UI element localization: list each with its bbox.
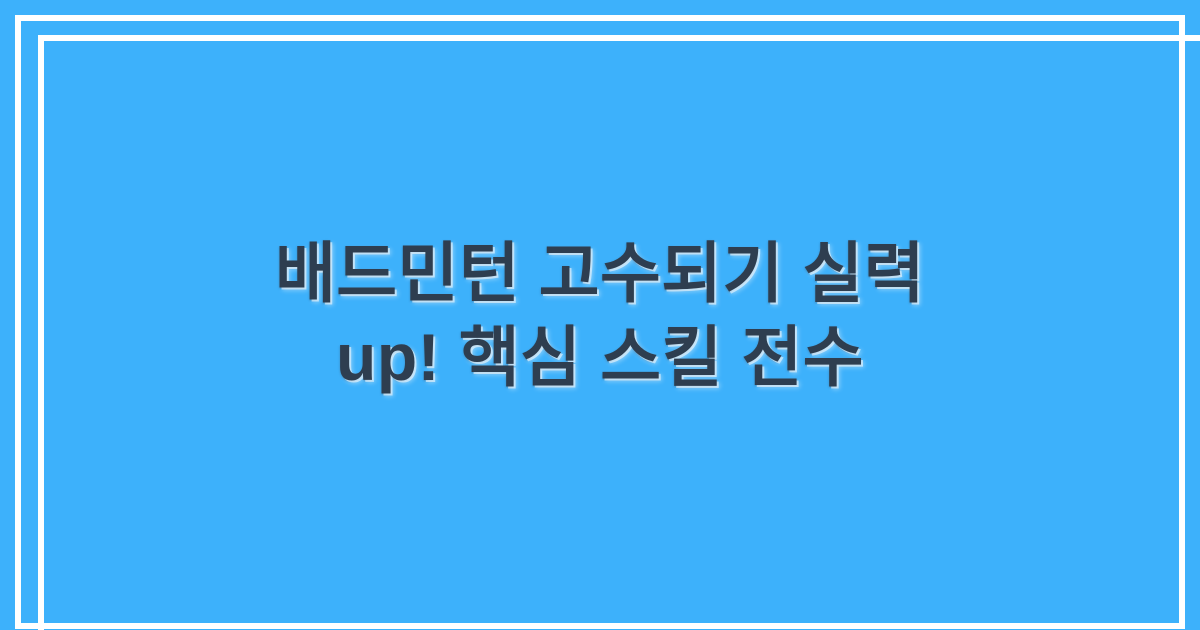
thumbnail-card: 배드민턴 고수되기 실력 up! 핵심 스킬 전수: [0, 0, 1200, 630]
title-line-2: up! 핵심 스킬 전수: [336, 315, 864, 399]
title-line-1: 배드민턴 고수되기 실력: [275, 231, 925, 315]
title-block: 배드민턴 고수되기 실력 up! 핵심 스킬 전수: [0, 0, 1200, 630]
